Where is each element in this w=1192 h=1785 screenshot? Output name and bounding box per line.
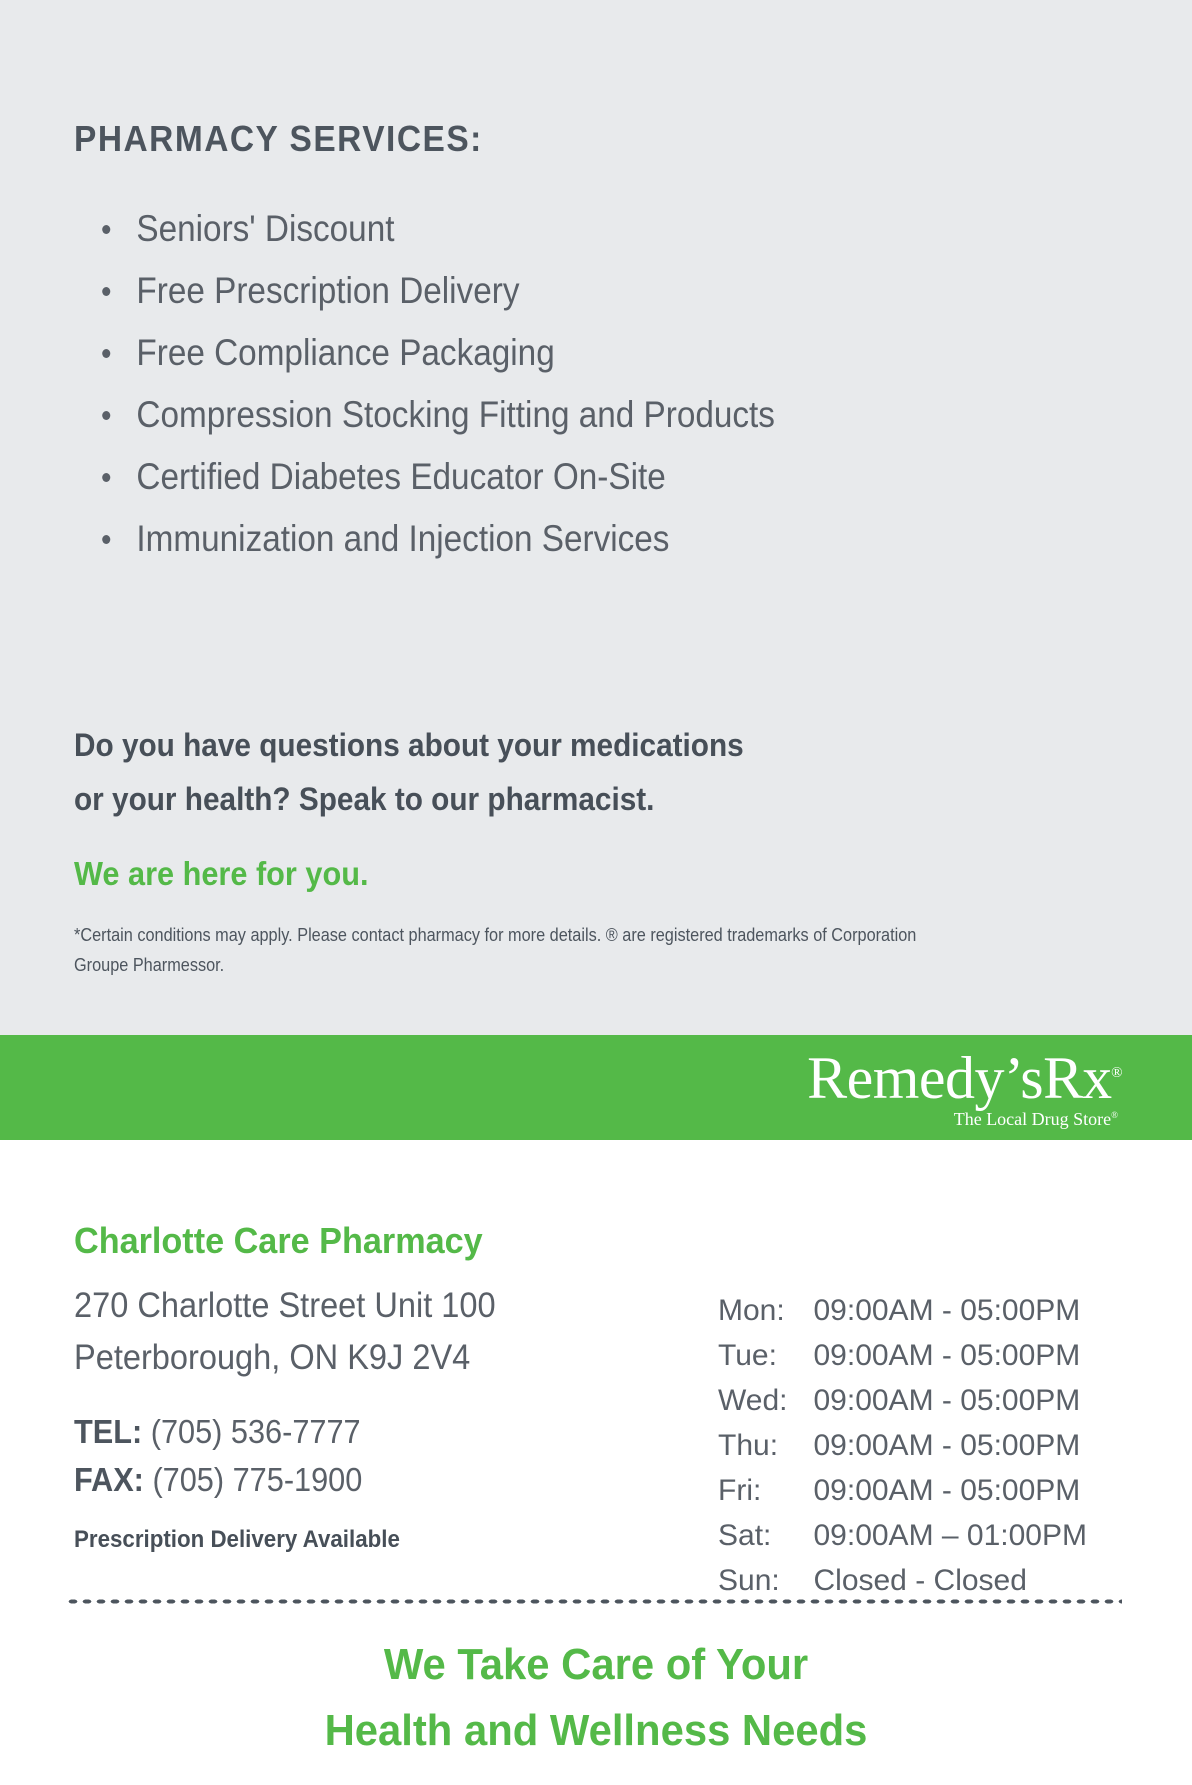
services-list: Seniors' Discount Free Prescription Deli… [86, 198, 852, 570]
hours-time: 09:00AM - 05:00PM [813, 1468, 1087, 1513]
store-contact: TEL: (705) 536-7777 FAX: (705) 775-1900 [74, 1408, 362, 1504]
hours-time: 09:00AM - 05:00PM [813, 1423, 1087, 1468]
brand-bar: Remedy’sRx® The Local Drug Store® [0, 1035, 1192, 1140]
list-item: Immunization and Injection Services [86, 508, 775, 570]
table-row: Wed: 09:00AM - 05:00PM [718, 1378, 1087, 1423]
page-title: PHARMACY SERVICES: [74, 118, 483, 160]
brand-wordmark: Remedy’sRx® [807, 1048, 1122, 1108]
table-row: Tue: 09:00AM - 05:00PM [718, 1333, 1087, 1378]
hours-time: 09:00AM – 01:00PM [813, 1513, 1087, 1558]
service-label: Free Compliance Packaging [136, 332, 554, 373]
hours-time: 09:00AM - 05:00PM [813, 1333, 1087, 1378]
list-item: Seniors' Discount [86, 198, 775, 260]
table-row: Thu: 09:00AM - 05:00PM [718, 1423, 1087, 1468]
service-label: Certified Diabetes Educator On-Site [136, 456, 665, 497]
closing-line-2: Health and Wellness Needs [30, 1698, 1162, 1764]
telephone-label: TEL: [74, 1413, 142, 1450]
brand-name-primary: Remedy’s [807, 1045, 1043, 1111]
pharmacist-question: Do you have questions about your medicat… [74, 718, 744, 826]
list-item: Compression Stocking Fitting and Product… [86, 384, 775, 446]
bullet-icon [102, 287, 110, 296]
tagline-trademark-icon: ® [1111, 1110, 1118, 1120]
brand-logo: Remedy’sRx® The Local Drug Store® [807, 1048, 1122, 1128]
table-row: Fri: 09:00AM - 05:00PM [718, 1468, 1087, 1513]
table-row: Mon: 09:00AM - 05:00PM [718, 1288, 1087, 1333]
store-name: Charlotte Care Pharmacy [74, 1220, 483, 1262]
hours-day: Fri: [718, 1468, 813, 1513]
list-item: Free Compliance Packaging [86, 322, 775, 384]
telephone-row: TEL: (705) 536-7777 [74, 1408, 362, 1456]
table-row: Sat: 09:00AM – 01:00PM [718, 1513, 1087, 1558]
address-line-2: Peterborough, ON K9J 2V4 [74, 1332, 496, 1384]
brand-tagline: The Local Drug Store [954, 1109, 1111, 1129]
table-row: Sun: Closed - Closed [718, 1558, 1087, 1603]
store-address: 270 Charlotte Street Unit 100 Peterborou… [74, 1280, 496, 1384]
closing-line-1: We Take Care of Your [30, 1632, 1162, 1698]
service-label: Immunization and Injection Services [136, 518, 669, 559]
hours-time: Closed - Closed [813, 1558, 1087, 1603]
brand-name-rx: Rx [1043, 1045, 1111, 1111]
question-line-1: Do you have questions about your medicat… [74, 718, 744, 772]
hours-time: 09:00AM - 05:00PM [813, 1288, 1087, 1333]
fax-row: FAX: (705) 775-1900 [74, 1456, 362, 1504]
address-line-1: 270 Charlotte Street Unit 100 [74, 1280, 496, 1332]
list-item: Certified Diabetes Educator On-Site [86, 446, 775, 508]
hours-day: Wed: [718, 1378, 813, 1423]
hours-day: Mon: [718, 1288, 813, 1333]
bullet-icon [102, 535, 110, 544]
hours-time: 09:00AM - 05:00PM [813, 1378, 1087, 1423]
services-panel: PHARMACY SERVICES: Seniors' Discount Fre… [0, 0, 1192, 1035]
reassurance-text: We are here for you. [74, 855, 369, 893]
disclaimer-text: *Certain conditions may apply. Please co… [74, 920, 945, 980]
delivery-note: Prescription Delivery Available [74, 1526, 400, 1554]
bullet-icon [102, 349, 110, 358]
hours-day: Tue: [718, 1333, 813, 1378]
question-line-2: or your health? Speak to our pharmacist. [74, 772, 744, 826]
closing-tagline: We Take Care of Your Health and Wellness… [0, 1632, 1192, 1764]
telephone-value[interactable]: (705) 536-7777 [151, 1413, 361, 1450]
hours-day: Sun: [718, 1558, 813, 1603]
hours-day: Sat: [718, 1513, 813, 1558]
store-info-panel: Charlotte Care Pharmacy 270 Charlotte St… [0, 1140, 1192, 1785]
hours-day: Thu: [718, 1423, 813, 1468]
brand-tagline-wrap: The Local Drug Store® [807, 1110, 1118, 1128]
fax-value: (705) 775-1900 [152, 1461, 362, 1498]
dotted-divider [66, 1598, 1122, 1605]
bullet-icon [102, 473, 110, 482]
service-label: Compression Stocking Fitting and Product… [136, 394, 775, 435]
bullet-icon [102, 411, 110, 420]
registered-trademark-icon: ® [1111, 1065, 1122, 1081]
service-label: Free Prescription Delivery [136, 270, 519, 311]
list-item: Free Prescription Delivery [86, 260, 775, 322]
store-hours-table: Mon: 09:00AM - 05:00PM Tue: 09:00AM - 05… [718, 1288, 1087, 1603]
bullet-icon [102, 225, 110, 234]
fax-label: FAX: [74, 1461, 144, 1498]
service-label: Seniors' Discount [136, 208, 394, 249]
